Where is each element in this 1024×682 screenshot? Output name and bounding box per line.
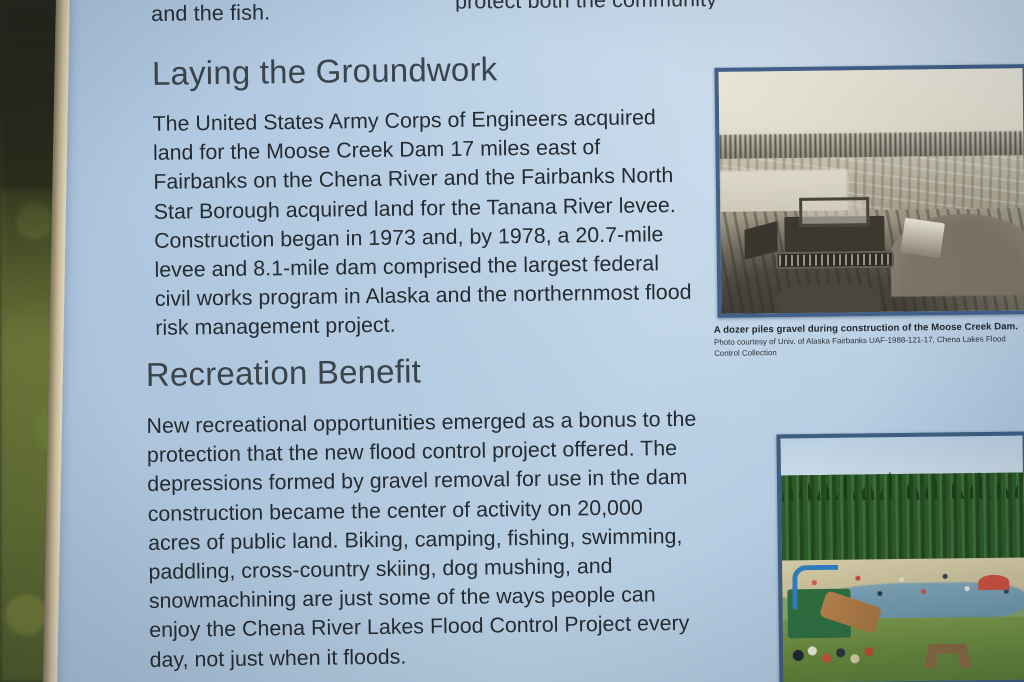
- clipped-text-right: protect both the community: [455, 0, 785, 12]
- section-body-recreation-benefit: New recreational opportunities emerged a…: [146, 405, 699, 675]
- caption-credit: Photo courtesy of Univ. of Alaska Fairba…: [714, 334, 1024, 359]
- photo-bulldozer: [766, 200, 919, 270]
- beach-photo: [776, 431, 1024, 682]
- sign-content: and the fish. protect both the community…: [0, 0, 1024, 682]
- clipped-text-left: and the fish.: [151, 0, 270, 27]
- photo-foreground-people: [788, 630, 890, 675]
- dozer-photo-caption: A dozer piles gravel during construction…: [714, 320, 1024, 359]
- section-body-laying-the-groundwork: The United States Army Corps of Engineer…: [152, 103, 700, 344]
- dozer-photo: [714, 64, 1024, 318]
- section-heading-laying-the-groundwork: Laying the Groundwork: [152, 52, 498, 91]
- photograph-of-interpretive-sign: and the fish. protect both the community…: [0, 0, 1024, 682]
- photo-trench-shadow: [776, 283, 880, 318]
- bulldozer-track: [775, 251, 894, 270]
- photo-spruce-forest: [781, 472, 1024, 568]
- bulldozer-cab: [799, 197, 869, 227]
- section-heading-recreation-benefit: Recreation Benefit: [146, 354, 422, 392]
- photo-beach-umbrella: [978, 575, 1010, 590]
- bulldozer-ripper: [901, 218, 945, 259]
